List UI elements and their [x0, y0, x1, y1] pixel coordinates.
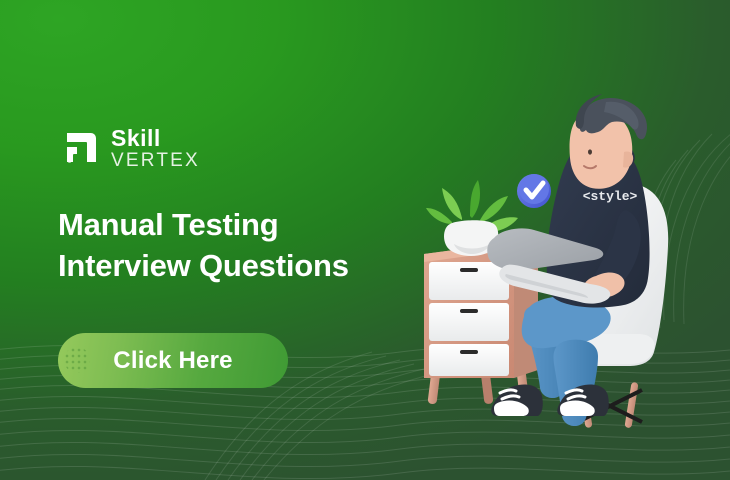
- brand-wordmark: Skill VERTEX: [111, 125, 200, 170]
- developer-at-desk-3d-illustration: <style>: [410, 90, 730, 430]
- hoodie-print-text: <style>: [583, 189, 638, 204]
- check-circle-icon: [517, 174, 551, 208]
- eye: [588, 149, 592, 154]
- drawer: [429, 262, 509, 300]
- promo-banner: Skill VERTEX Manual Testing Interview Qu…: [0, 0, 730, 480]
- cabinet-drawers: [429, 262, 509, 376]
- page-title: Manual Testing Interview Questions: [58, 204, 438, 286]
- drawer: [429, 303, 509, 341]
- shoe-back: [491, 384, 543, 416]
- drawer-handle: [460, 309, 478, 313]
- skillvertex-bracket-logo-icon: [58, 125, 102, 169]
- click-here-button[interactable]: Click Here: [58, 333, 288, 388]
- drawer-handle: [460, 268, 478, 272]
- headline-line-2: Interview Questions: [58, 245, 438, 286]
- brand-logo[interactable]: Skill VERTEX: [58, 118, 438, 176]
- drawer: [429, 344, 509, 376]
- drawer-handle: [460, 350, 478, 354]
- headline-line-1: Manual Testing: [58, 204, 438, 245]
- brand-name-secondary: VERTEX: [111, 151, 200, 170]
- brand-name-primary: Skill: [111, 127, 200, 150]
- banner-content: Skill VERTEX Manual Testing Interview Qu…: [58, 118, 438, 388]
